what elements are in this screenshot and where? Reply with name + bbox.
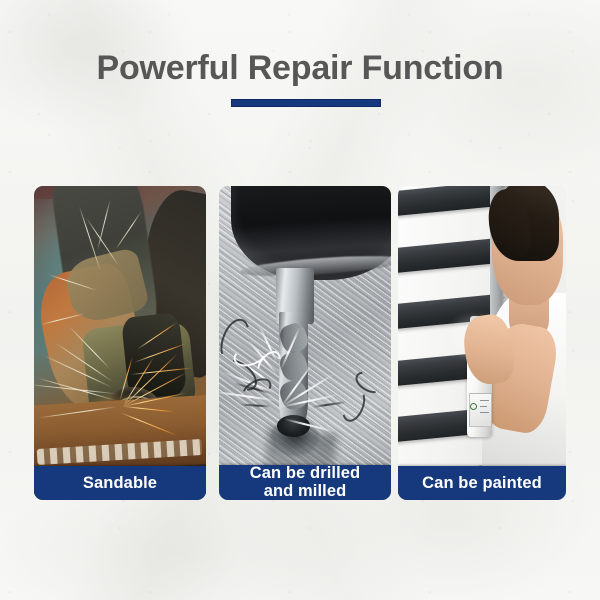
card-label-painted: Can be painted [398,466,566,500]
spray-painting-photo [398,186,566,500]
title-underline-rule [231,99,381,107]
card-label-line-2: and milled [250,483,361,501]
feature-card-sandable[interactable]: Sandable [34,186,206,500]
grinder-sparks-photo [34,186,206,500]
feature-card-painted[interactable]: Can be painted [398,186,566,500]
drill-bit-photo [219,186,391,500]
feature-card-drilled-milled[interactable]: Can be drilled and milled [219,186,391,500]
card-label-sandable: Sandable [34,466,206,500]
card-label-drilled-milled: Can be drilled and milled [219,465,391,500]
card-label-line: Sandable [83,474,157,493]
product-feature-poster: Powerful Repair Function [0,0,600,600]
card-label-line: Can be painted [422,474,542,493]
card-label-line: Can be drilled [250,465,361,483]
page-title: Powerful Repair Function [0,48,600,88]
